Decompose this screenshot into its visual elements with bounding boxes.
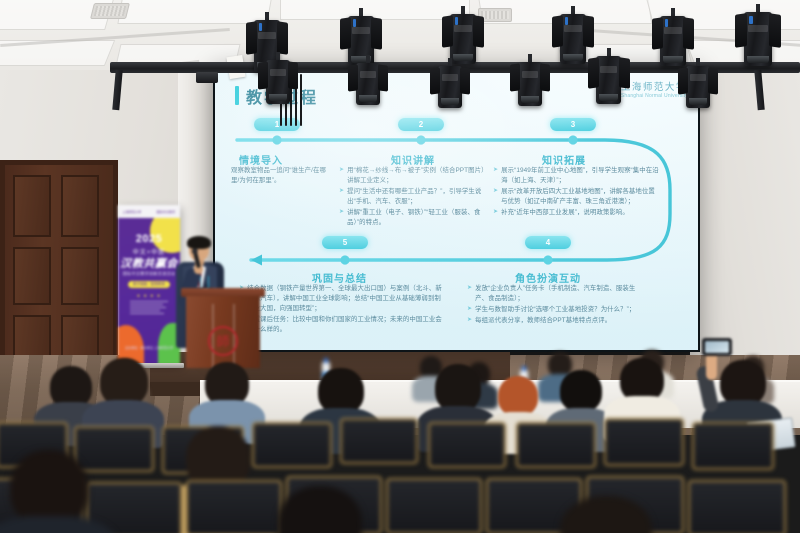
auditorium-chair[interactable] <box>186 480 282 533</box>
step-bullet: 展示“1949年前工业中心地图”，引导学生观察“集中在沿海（如上海、天津）”； <box>501 166 661 186</box>
step-bullet: 发放“企业负责人”任务卡（手机制造、汽车制造、服装生产、食品制造）； <box>475 284 647 304</box>
door-panel <box>13 247 51 305</box>
step-heading-1: 情境导入 <box>239 152 283 167</box>
banner-year: 2025 <box>118 233 180 245</box>
stage-light <box>744 4 772 58</box>
banner-org-left: 上海师范大学 <box>122 209 141 214</box>
door-panel <box>61 247 99 305</box>
audience-area <box>0 330 800 533</box>
step-heading-5: 巩固与总结 <box>312 270 367 285</box>
step-body-2: ➤用“棉花→纱线→布→被子”实例（结合PPT图片）讲解工业定义； ➤提问“生活中… <box>339 166 485 229</box>
presenter-hair <box>187 236 211 249</box>
banner-subtitle: 国际中文教学创新交流活动 <box>118 271 180 277</box>
step-bullet: 讲解“重工业（电子、钢铁）”“轻工业（服装、食品）”的特点。 <box>347 208 485 228</box>
banner-org-right: 国际中文教育 <box>157 209 176 214</box>
banner-header: 上海师范大学 国际中文教育 <box>118 205 180 218</box>
step-bullet: 展示“改革开放后四大工业基地地图”，讲解各基地位置与优势（如辽中南矿产丰富、珠三… <box>501 187 661 207</box>
stage-light <box>518 54 542 98</box>
stage-light <box>348 8 374 58</box>
step-heading-4: 角色扮演互动 <box>515 270 581 285</box>
auditorium-chair[interactable] <box>386 478 482 533</box>
banner-main-title: 汉教共赢会 <box>118 255 180 271</box>
stage-light <box>686 58 710 100</box>
step-number-4: 4 <box>525 236 571 249</box>
step-number-2: 2 <box>398 118 444 131</box>
stage-light <box>450 6 476 56</box>
step-number-5: 5 <box>322 236 368 249</box>
banner-dots: ★ ★ ★ ★ <box>118 293 180 298</box>
step-body-4: ➤发放“企业负责人”任务卡（手机制造、汽车制造、服装生产、食品制造）； ➤学生与… <box>467 284 647 327</box>
step-heading-3: 知识拓展 <box>542 152 586 167</box>
stage-light <box>596 48 621 96</box>
step-bullet: 用“棉花→纱线→布→被子”实例（结合PPT图片）讲解工业定义； <box>347 166 485 186</box>
step-bullet: 结合数据（钢铁产量世界第一、全球最大出口国）与案例（北斗、新能源汽车），讲解中国… <box>247 284 447 314</box>
stage-light <box>438 58 462 100</box>
step-bullet: 学生与数智助手讨论“选哪个工业基地投资？为什么？”； <box>475 305 635 315</box>
door-panel <box>61 175 99 237</box>
auditorium-chair[interactable] <box>604 418 684 466</box>
auditorium-chair[interactable] <box>688 480 786 533</box>
step-bullet: 提问“生活中还有哪些工业产品？”，引导学生说出“手机、汽车、衣服”； <box>347 187 485 207</box>
banner-chip: 数字赋能 · 智慧教育 <box>128 281 170 288</box>
step-bullet: 补充“近年中西部工业发展”，说明政策影响。 <box>501 208 629 218</box>
step-bullet: 每组派代表分享，教师结合PPT基地特点点评。 <box>475 316 611 326</box>
auditorium-chair[interactable] <box>428 422 506 468</box>
step-heading-2: 知识讲解 <box>391 152 435 167</box>
step-body-5: ➤结合数据（钢铁产量世界第一、全球最大出口国）与案例（北斗、新能源汽车），讲解中… <box>239 284 447 336</box>
stage-light <box>266 52 290 96</box>
step-body-3: ➤展示“1949年前工业中心地图”，引导学生观察“集中在沿海（如上海、天津）”；… <box>493 166 661 219</box>
step-number-3: 3 <box>550 118 596 131</box>
auditorium-chair[interactable] <box>516 422 596 468</box>
ceiling-projector <box>196 72 218 83</box>
auditorium-chair[interactable] <box>74 426 154 472</box>
smartphone-recording[interactable] <box>702 338 732 356</box>
auditorium-chair[interactable] <box>692 422 774 470</box>
step-bullet: 观察教室物品一追问“谁生产/在哪里/为何在那里”。 <box>231 166 327 186</box>
air-vent <box>90 3 130 19</box>
door-panel <box>13 175 51 237</box>
stage-light <box>560 6 586 56</box>
stage-light <box>356 55 380 97</box>
ceiling-panel <box>117 0 272 24</box>
stage-light <box>660 8 686 58</box>
banner-text-lines <box>130 301 168 316</box>
step-body-1: ➤观察教室物品一追问“谁生产/在哪里/为何在那里”。 <box>231 166 327 187</box>
screenshot-root: 教学过程 上海师范大学 Shanghai Normal University <box>0 0 800 533</box>
auditorium-chair[interactable] <box>340 418 418 464</box>
auditorium-chair[interactable] <box>252 422 332 468</box>
